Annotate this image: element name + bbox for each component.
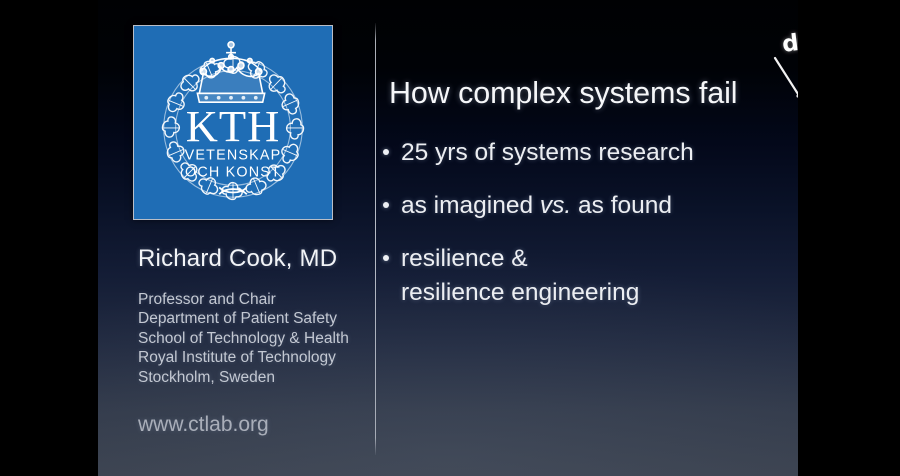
list-item: resilience & resilience engineering	[383, 242, 795, 310]
kth-logo: KTH VETENSKAP OCH KONST	[133, 25, 333, 220]
bullet-text: 25 yrs of systems research	[401, 136, 694, 170]
affiliation-line: School of Technology & Health	[138, 329, 349, 348]
affiliation-block: Professor and Chair Department of Patien…	[138, 290, 349, 387]
list-item: as imagined vs. as found	[383, 189, 795, 223]
affiliation-line: Royal Institute of Technology	[138, 348, 349, 367]
handwritten-annotation-dont: don't	[781, 24, 798, 58]
presenter-name: Richard Cook, MD	[138, 245, 337, 273]
bullet-text-before: as imagined	[401, 192, 540, 219]
presentation-slide: KTH VETENSKAP OCH KONST Richard Cook, MD…	[98, 0, 798, 476]
caret-insertion-mark-icon	[771, 56, 798, 112]
bullet-list: 25 yrs of systems research as imagined v…	[383, 136, 795, 329]
website-url: www.ctlab.org	[138, 413, 269, 437]
kth-wordmark-text: KTH	[186, 101, 280, 151]
bullet-text: as imagined vs. as found	[401, 189, 672, 223]
bullet-text-emphasis: vs.	[540, 192, 571, 219]
affiliation-line: Department of Patient Safety	[138, 309, 349, 328]
bullet-dot-icon	[383, 202, 389, 208]
slide-right-panel: How complex systems fail don't 25 yrs of…	[375, 0, 798, 476]
vertical-divider	[375, 23, 376, 455]
affiliation-line: Professor and Chair	[138, 290, 349, 309]
slide-left-panel: KTH VETENSKAP OCH KONST Richard Cook, MD…	[98, 0, 375, 476]
kth-motto-line2: OCH KONST	[185, 164, 281, 180]
bullet-dot-icon	[383, 255, 389, 261]
title-area: How complex systems fail don't	[389, 76, 798, 122]
bullet-text: resilience & resilience engineering	[401, 242, 639, 310]
page-title: How complex systems fail	[389, 76, 737, 110]
bullet-dot-icon	[383, 149, 389, 155]
kth-motto-line1: VETENSKAP	[185, 148, 282, 164]
video-letterbox-frame: KTH VETENSKAP OCH KONST Richard Cook, MD…	[0, 0, 900, 476]
kth-emblem-icon: KTH VETENSKAP OCH KONST	[134, 26, 332, 219]
affiliation-line: Stockholm, Sweden	[138, 368, 349, 387]
list-item: 25 yrs of systems research	[383, 136, 795, 170]
bullet-text-after: as found	[571, 192, 672, 219]
